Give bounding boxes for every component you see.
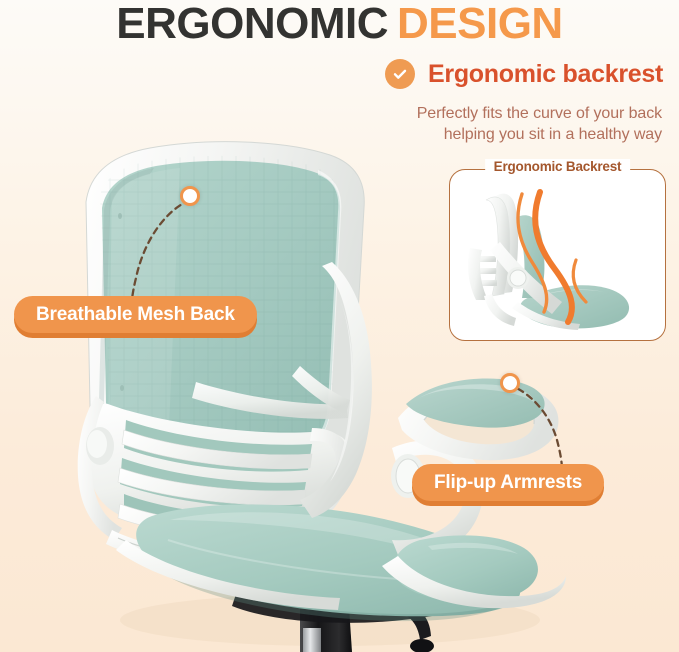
- check-circle-icon: [385, 59, 415, 89]
- hotspot-dot-mesh-back[interactable]: [180, 186, 200, 206]
- feature-bullet-title: Ergonomic backrest: [428, 60, 663, 89]
- callout-label-armrests: Flip-up Armrests: [434, 472, 582, 494]
- feature-subtitle-line-2: helping you sit in a healthy way: [362, 124, 662, 145]
- callout-label-mesh-back: Breathable Mesh Back: [36, 304, 235, 326]
- feature-bullet: Ergonomic backrest: [385, 59, 663, 89]
- inset-card-title: Ergonomic Backrest: [485, 159, 631, 174]
- page-title-primary: ERGONOMIC: [116, 0, 388, 48]
- ergonomic-backrest-inset-card: Ergonomic Backrest: [449, 169, 666, 341]
- page-title-accent: DESIGN: [397, 0, 563, 48]
- spine-curve-diagram: [456, 182, 659, 332]
- callout-breathable-mesh-back[interactable]: Breathable Mesh Back: [14, 296, 257, 333]
- hotspot-dot-armrest[interactable]: [500, 373, 520, 393]
- feature-bullet-subtitle: Perfectly fits the curve of your back he…: [362, 103, 662, 145]
- product-feature-graphic: ERGONOMICDESIGN Ergonomic backrest Perfe…: [0, 0, 679, 652]
- callout-flip-up-armrests[interactable]: Flip-up Armrests: [412, 464, 604, 501]
- feature-subtitle-line-1: Perfectly fits the curve of your back: [362, 103, 662, 124]
- page-title: ERGONOMICDESIGN: [0, 0, 679, 50]
